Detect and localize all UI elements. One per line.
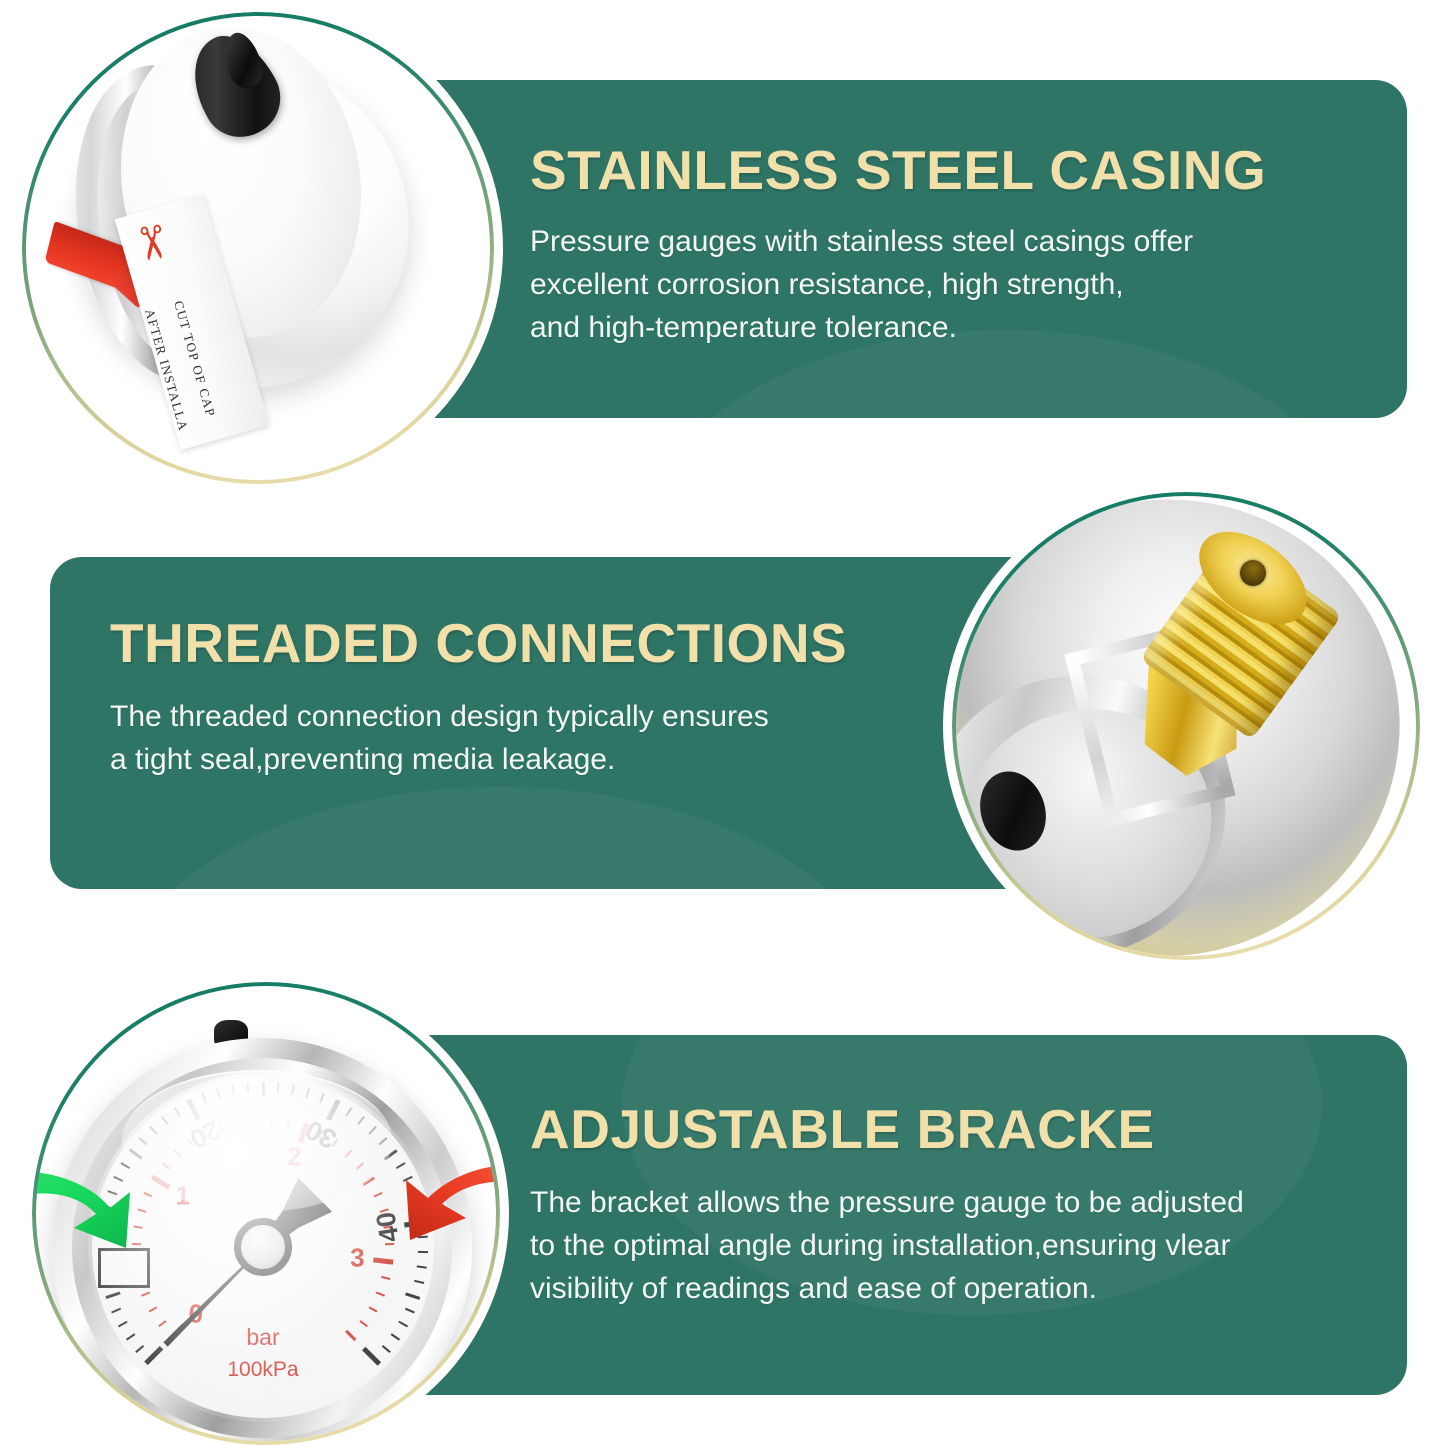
feature-description-line: Pressure gauges with stainless steel cas… (530, 220, 1407, 263)
feature-title: ADJUSTABLE BRACKE (530, 1101, 1407, 1157)
dial-label-inner: 1 (175, 1181, 189, 1212)
feature-text-block: STAINLESS STEEL CASING Pressure gauges w… (530, 142, 1407, 350)
instruction-label-line2: CUT TOP OF CAP (170, 299, 241, 480)
dial-label-inner: 2 (287, 1142, 301, 1173)
feature-description-line: to the optimal angle during installation… (530, 1224, 1407, 1267)
dial-unit-primary: bar (92, 1324, 434, 1351)
stainless-casing-illustration: ✂ AFTER INSTALLA CUT TOP OF CAP (26, 16, 490, 480)
feature-description-line: visibility of readings and ease of opera… (530, 1267, 1407, 1310)
feature-description: Pressure gauges with stainless steel cas… (530, 220, 1407, 350)
feature-text-block: ADJUSTABLE BRACKE The bracket allows the… (530, 1101, 1407, 1311)
feature-description: The bracket allows the pressure gauge to… (530, 1181, 1407, 1311)
feature-panel-adjustable-bracket: ADJUSTABLE BRACKE The bracket allows the… (392, 1035, 1407, 1395)
feature-image-stainless-steel-casing: ✂ AFTER INSTALLA CUT TOP OF CAP (22, 12, 494, 484)
dial-label-outer: 20 (185, 1113, 226, 1154)
bubble-photo: 2030400123 bar 100kPa (36, 986, 496, 1441)
feature-image-adjustable-bracket: 2030400123 bar 100kPa (32, 982, 500, 1445)
green-arrow (36, 1162, 154, 1258)
bubble-photo (956, 496, 1416, 956)
red-arrow (394, 1158, 496, 1250)
feature-image-threaded-connections (952, 492, 1420, 960)
gauge-dial-illustration: 2030400123 bar 100kPa (36, 986, 496, 1441)
scissors-icon: ✂ (126, 221, 177, 266)
threaded-connection-illustration (956, 496, 1416, 956)
panel-decorative-blob (120, 787, 880, 889)
feature-title: STAINLESS STEEL CASING (530, 142, 1407, 198)
feature-panel-stainless-steel-casing: STAINLESS STEEL CASING Pressure gauges w… (392, 80, 1407, 418)
bubble-photo: ✂ AFTER INSTALLA CUT TOP OF CAP (26, 16, 490, 480)
feature-description-line: excellent corrosion resistance, high str… (530, 263, 1407, 306)
dial-label-outer: 30 (300, 1113, 341, 1154)
infographic-canvas: STAINLESS STEEL CASING Pressure gauges w… (0, 0, 1445, 1445)
feature-description-line: The bracket allows the pressure gauge to… (530, 1181, 1407, 1224)
feature-description-line: and high-temperature tolerance. (530, 306, 1407, 349)
dial-label-inner: 3 (350, 1242, 364, 1273)
gauge-needle-hub (234, 1218, 292, 1276)
dial-unit-secondary: 100kPa (92, 1358, 434, 1382)
